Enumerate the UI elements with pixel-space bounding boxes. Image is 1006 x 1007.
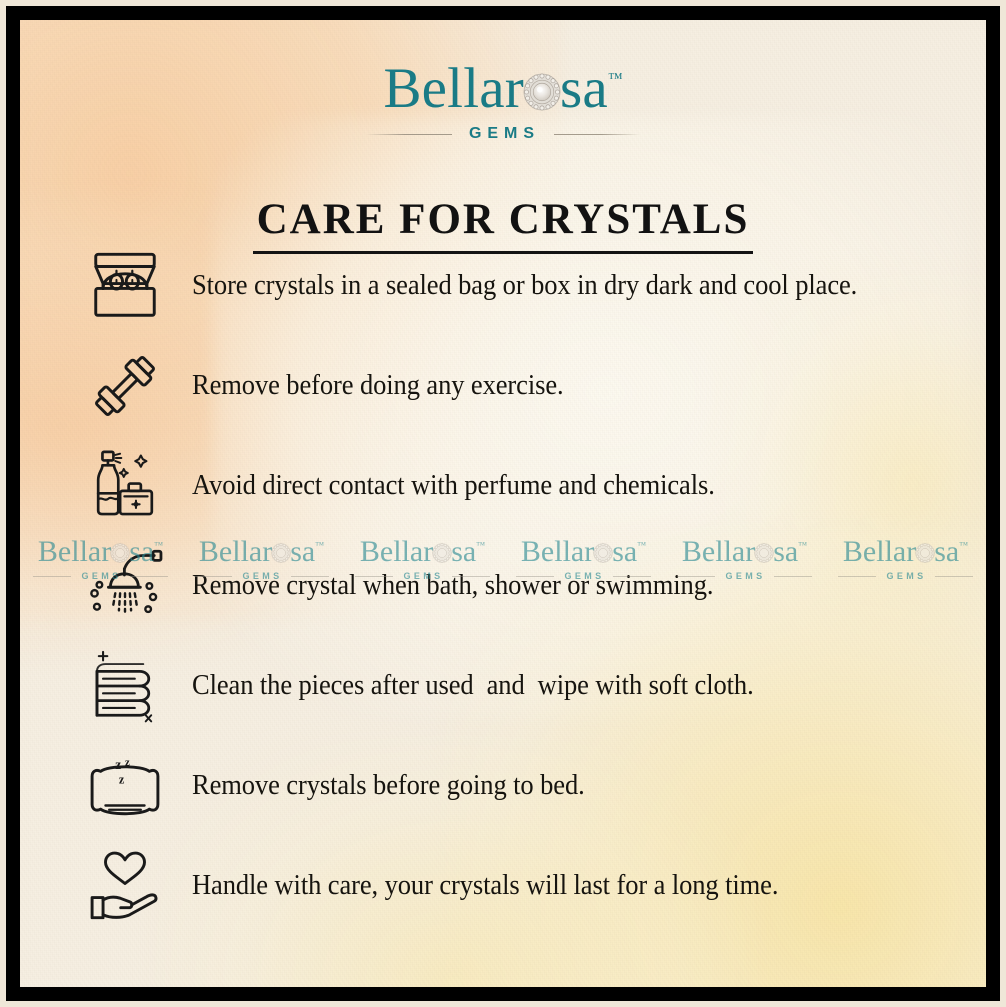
list-item: z z z Remove crystals before going to be… xyxy=(20,736,986,836)
list-item: Remove before doing any exercise. xyxy=(20,336,986,436)
brand-subtitle-row: GEMS xyxy=(20,125,986,143)
heart-in-hand-icon xyxy=(86,847,164,925)
list-item-text: Clean the pieces after used and wipe wit… xyxy=(192,670,930,702)
brand-logo: Bellar xyxy=(20,60,986,143)
brand-wordmark: Bellar xyxy=(383,60,622,117)
list-item-text: Handle with care, your crystals will las… xyxy=(192,870,930,902)
spray-bottle-chemicals-icon xyxy=(86,447,164,525)
list-item-text: Store crystals in a sealed bag or box in… xyxy=(192,270,930,302)
list-item: Avoid direct contact with perfume and ch… xyxy=(20,436,986,536)
list-item-text: Remove crystals before going to bed. xyxy=(192,770,930,802)
jewelry-box-icon xyxy=(86,247,164,325)
shower-head-icon xyxy=(86,547,164,625)
poster-root: Bellar xyxy=(0,0,1006,1007)
brand-name-suffix: sa xyxy=(560,60,608,117)
list-item-text: Remove crystal when bath, shower or swim… xyxy=(192,570,930,602)
list-item-text: Remove before doing any exercise. xyxy=(192,370,930,402)
brand-rule-right xyxy=(554,134,640,135)
svg-text:z: z xyxy=(125,756,130,768)
svg-text:z: z xyxy=(115,757,121,772)
brand-rule-left xyxy=(366,134,452,135)
black-frame-border: Bellar xyxy=(6,6,1000,1001)
brand-name-prefix: Bellar xyxy=(383,60,523,117)
dumbbell-icon xyxy=(86,347,164,425)
list-item: Clean the pieces after used and wipe wit… xyxy=(20,636,986,736)
list-item: Remove crystal when bath, shower or swim… xyxy=(20,536,986,636)
list-item: Handle with care, your crystals will las… xyxy=(20,836,986,936)
poster-canvas: Bellar xyxy=(20,20,986,987)
folded-towels-icon xyxy=(86,647,164,725)
brand-subtitle: GEMS xyxy=(466,125,540,143)
gem-medallion-icon xyxy=(523,73,561,111)
poster-content: Bellar xyxy=(20,20,986,987)
svg-text:z: z xyxy=(119,773,125,787)
pillow-sleep-icon: z z z xyxy=(86,747,164,825)
list-item-text: Avoid direct contact with perfume and ch… xyxy=(192,470,930,502)
care-tips-list: Store crystals in a sealed bag or box in… xyxy=(20,236,986,936)
brand-trademark-symbol: ™ xyxy=(608,71,623,87)
list-item: Store crystals in a sealed bag or box in… xyxy=(20,236,986,336)
